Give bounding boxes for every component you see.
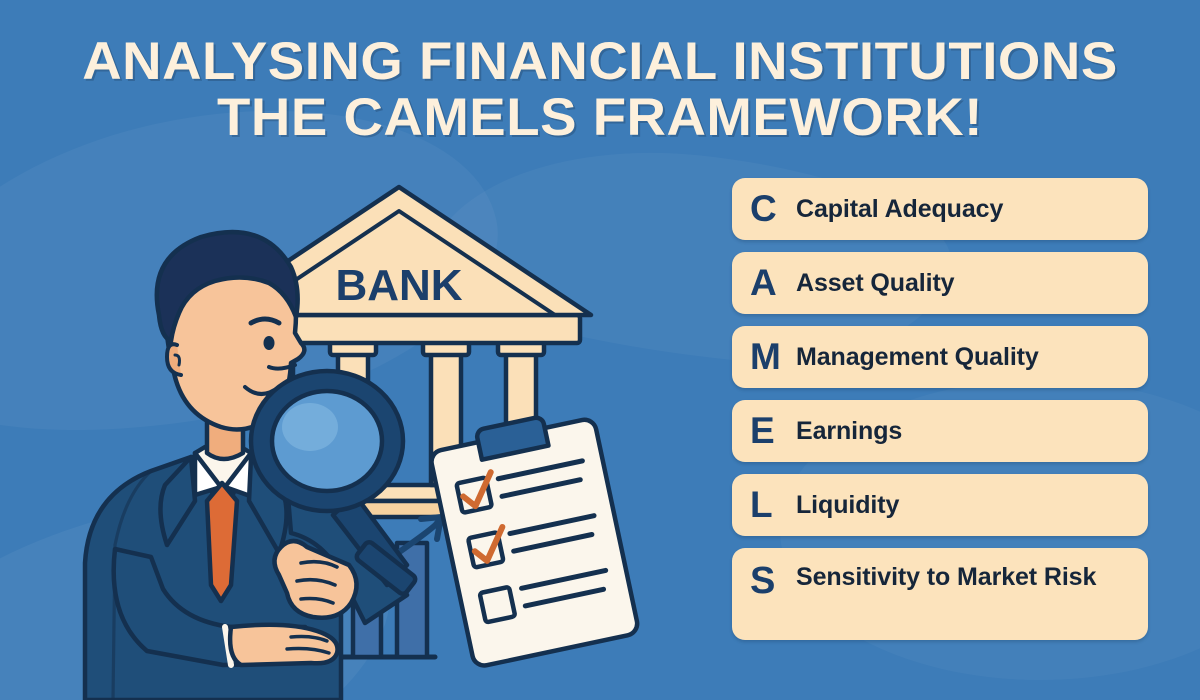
clipboard-checklist-icon	[427, 406, 640, 668]
camels-item-management-quality[interactable]: M Management Quality	[732, 326, 1148, 388]
camels-label: Earnings	[796, 416, 902, 446]
camels-label: Capital Adequacy	[796, 194, 1003, 224]
title-line-1: ANALYSING FINANCIAL INSTITUTIONS	[0, 34, 1200, 90]
bank-sign-label: BANK	[335, 261, 462, 310]
camels-item-sensitivity-to-market-risk[interactable]: S Sensitivity to Market Risk	[732, 548, 1148, 640]
camels-label: Management Quality	[796, 342, 1039, 372]
camels-letter: L	[750, 485, 796, 525]
camels-letter: E	[750, 411, 796, 451]
camels-item-capital-adequacy[interactable]: C Capital Adequacy	[732, 178, 1148, 240]
camels-list: C Capital Adequacy A Asset Quality M Man…	[732, 178, 1148, 640]
camels-letter: C	[750, 189, 796, 229]
hero-illustration: BANK	[55, 165, 735, 700]
camels-item-earnings[interactable]: E Earnings	[732, 400, 1148, 462]
title-line-2: THE CAMELS FRAMEWORK!	[0, 90, 1200, 146]
camels-label: Sensitivity to Market Risk	[796, 562, 1096, 592]
camels-letter: S	[750, 562, 796, 600]
infographic-canvas: ANALYSING FINANCIAL INSTITUTIONS THE CAM…	[0, 0, 1200, 700]
camels-item-asset-quality[interactable]: A Asset Quality	[732, 252, 1148, 314]
camels-letter: M	[750, 337, 796, 377]
camels-label: Liquidity	[796, 490, 899, 520]
camels-item-liquidity[interactable]: L Liquidity	[732, 474, 1148, 536]
page-title: ANALYSING FINANCIAL INSTITUTIONS THE CAM…	[0, 34, 1200, 146]
camels-letter: A	[750, 263, 796, 303]
camels-label: Asset Quality	[796, 268, 954, 298]
